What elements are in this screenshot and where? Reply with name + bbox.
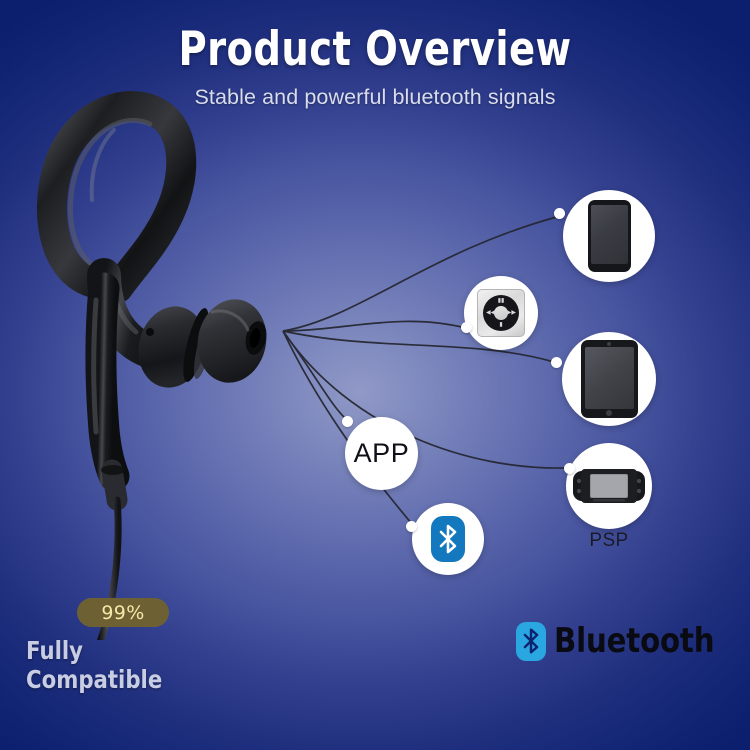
earhook-loop xyxy=(52,106,181,288)
bluetooth-brand-text: Bluetooth xyxy=(554,621,714,661)
page-subtitle: Stable and powerful bluetooth signals xyxy=(0,85,750,110)
tablet-bubble[interactable] xyxy=(562,332,656,426)
connector-dot-ipod xyxy=(461,322,472,333)
earbud-tip xyxy=(130,293,274,395)
compatibility-percent-badge: 99% xyxy=(77,598,169,627)
ipod-shuffle-icon: ▮▮▮◀◀▶▶ xyxy=(477,289,525,337)
tablet-icon xyxy=(581,340,638,418)
bluetooth-brand-wordmark: Bluetooth xyxy=(516,621,740,661)
device-node-smartphone[interactable] xyxy=(563,190,655,282)
psp-console-icon xyxy=(573,469,645,503)
bluetooth-rune-glyph-icon xyxy=(523,628,539,654)
product-overview-banner: Product Overview Stable and powerful blu… xyxy=(0,0,750,750)
device-node-bluetooth[interactable] xyxy=(412,503,484,575)
bluetooth-icon xyxy=(431,516,465,562)
connector-dot-smartphone xyxy=(554,208,565,219)
bluetooth-bubble[interactable] xyxy=(412,503,484,575)
compatibility-percent-value: 99% xyxy=(101,602,144,624)
app-text-icon: APP xyxy=(354,438,410,469)
app-bubble[interactable]: APP xyxy=(345,417,418,490)
page-title: Product Overview xyxy=(68,24,683,76)
device-node-tablet[interactable] xyxy=(562,332,656,426)
psp-label: PSP xyxy=(566,530,652,552)
connector-dot-psp xyxy=(564,463,575,474)
smartphone-icon xyxy=(588,200,631,272)
bluetooth-logo-icon xyxy=(516,622,546,661)
device-node-app[interactable]: APP xyxy=(345,417,418,490)
device-node-psp[interactable]: PSP xyxy=(566,443,652,552)
bluetooth-rune-icon xyxy=(439,524,457,554)
psp-bubble[interactable] xyxy=(566,443,652,529)
connector-dot-app xyxy=(342,416,353,427)
fully-compatible-label: Fully Compatible xyxy=(26,636,205,694)
banner-header: Product Overview Stable and powerful blu… xyxy=(0,24,750,110)
connector-dot-bluetooth xyxy=(406,521,417,532)
ipod-bubble[interactable]: ▮▮▮◀◀▶▶ xyxy=(464,276,538,350)
device-node-ipod[interactable]: ▮▮▮◀◀▶▶ xyxy=(464,276,538,350)
connector-dot-tablet xyxy=(551,357,562,368)
earphone-body xyxy=(94,275,176,500)
smartphone-bubble[interactable] xyxy=(563,190,655,282)
